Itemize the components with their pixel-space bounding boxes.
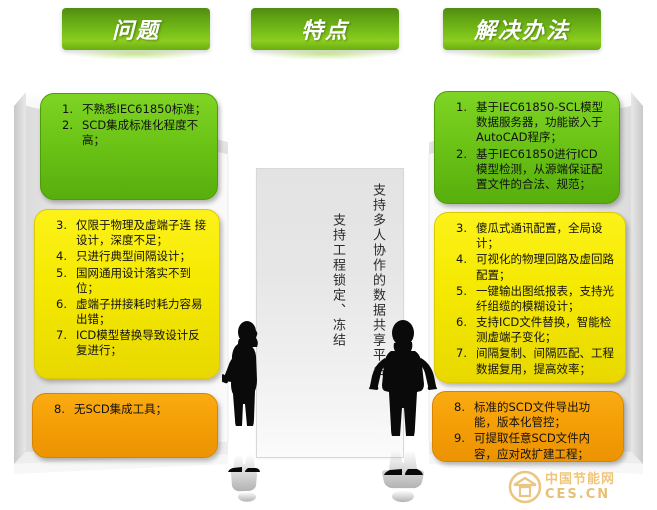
list-item-text: 可视化的物理回路及虚回路配置； [476,252,615,282]
solution-green-box[interactable]: 1. 基于IEC61850-SCL模型数据服务器，功能嵌入于AutoCAD程序；… [434,91,620,204]
list-item: 7. ICD模型替换导致设计反复进行； [41,328,209,358]
list-item-text: 基于IEC61850-SCL模型数据服务器，功能嵌入于AutoCAD程序； [476,100,609,146]
watermark-english-text: CES.CN [545,488,615,501]
banner-feature-label: 特点 [301,13,349,45]
list-item-number: 4. [41,249,76,264]
ces-logo-icon [508,470,542,504]
list-item: 4. 只进行典型间隔设计； [41,249,209,264]
center-vertical-text-secondary: 支持工程锁定、冻结 [327,213,347,425]
solution-orange-list: 8. 标准的SCD文件导出功能，版本化管控； 9. 可提取任意SCD文件内容，应… [439,400,613,462]
list-item-number: 2. [441,147,476,193]
list-item-number: 3. [41,218,76,248]
list-item: 2. 基于IEC61850进行ICD模型检测，从源端保证配置文件的合法、规范； [441,147,609,193]
problem-green-list: 1. 不熟悉IEC61850标准； 2. SCD集成标准化程度不高； [47,102,207,149]
list-item-number: 5. [441,284,476,314]
banner-solution-label: 解决办法 [474,13,570,45]
list-item-number: 3. [441,221,476,251]
list-item-text: 间隔复制、间隔匹配、工程数据复用，提高效率； [476,346,615,376]
list-item-number: 1. [441,100,476,146]
list-item: 5. 国网通用设计落实不到位； [41,266,209,296]
list-item-text: 只进行典型间隔设计； [76,249,209,264]
list-item-number: 4. [441,252,476,282]
list-item: 4. 可视化的物理回路及虚回路配置； [441,252,615,282]
problem-green-box[interactable]: 1. 不熟悉IEC61850标准； 2. SCD集成标准化程度不高； [40,93,218,200]
solution-green-list: 1. 基于IEC61850-SCL模型数据服务器，功能嵌入于AutoCAD程序；… [441,100,609,192]
list-item: 1. 基于IEC61850-SCL模型数据服务器，功能嵌入于AutoCAD程序； [441,100,609,146]
problem-yellow-list: 3. 仅限于物理及虚端子连 接设计，深度不足； 4. 只进行典型间隔设计； 5.… [41,218,209,359]
problem-orange-list: 8. 无SCD集成工具； [39,402,207,417]
list-item: 8. 无SCD集成工具； [39,402,207,417]
list-item-number: 7. [441,346,476,376]
banner-solution[interactable]: 解决办法 [443,8,601,50]
solution-yellow-box[interactable]: 3. 傻瓜式通讯配置，全局设计； 4. 可视化的物理回路及虚回路配置； 5. 一… [434,212,626,383]
list-item-text: 支持ICD文件替换，智能检测虚端子变化； [476,315,615,345]
list-item-number: 8. [39,402,74,417]
banner-solution-glow [449,48,595,60]
list-item-text: 可提取任意SCD文件内容，应对改扩建工程； [474,431,613,461]
list-item-text: 虚端子拼接耗时耗力容易出错； [76,297,209,327]
list-item-text: SCD集成标准化程度不高； [82,118,207,148]
list-item: 7. 间隔复制、间隔匹配、工程数据复用，提高效率； [441,346,615,376]
solution-orange-box[interactable]: 8. 标准的SCD文件导出功能，版本化管控； 9. 可提取任意SCD文件内容，应… [432,391,624,462]
banner-feature-glow [257,48,393,60]
list-item-number: 6. [41,297,76,327]
person-with-tablet-figure [222,318,282,503]
list-item-text: 基于IEC61850进行ICD模型检测，从源端保证配置文件的合法、规范； [476,147,609,193]
list-item: 9. 可提取任意SCD文件内容，应对改扩建工程； [439,431,613,461]
list-item-number: 1. [47,102,82,117]
list-item: 3. 仅限于物理及虚端子连 接设计，深度不足； [41,218,209,248]
banner-problem[interactable]: 问题 [62,8,210,50]
solution-yellow-list: 3. 傻瓜式通讯配置，全局设计； 4. 可视化的物理回路及虚回路配置； 5. 一… [441,221,615,377]
problem-yellow-box[interactable]: 3. 仅限于物理及虚端子连 接设计，深度不足； 4. 只进行典型间隔设计； 5.… [34,209,220,379]
list-item-text: 国网通用设计落实不到位； [76,266,209,296]
list-item-number: 9. [439,431,474,461]
list-item-number: 8. [439,400,474,430]
list-item: 2. SCD集成标准化程度不高； [47,118,207,148]
list-item-text: 标准的SCD文件导出功能，版本化管控； [474,400,613,430]
list-item-text: 仅限于物理及虚端子连 接设计，深度不足； [76,218,209,248]
list-item-text: 无SCD集成工具； [74,402,207,417]
list-item-number: 2. [47,118,82,148]
list-item: 6. 虚端子拼接耗时耗力容易出错； [41,297,209,327]
list-item-text: 一键输出图纸报表，支持光纤组缆的模糊设计； [476,284,615,314]
list-item-number: 5. [41,266,76,296]
watermark-chinese-text: 中国节能网 [545,473,615,486]
list-item: 6. 支持ICD文件替换，智能检测虚端子变化； [441,315,615,345]
list-item: 8. 标准的SCD文件导出功能，版本化管控； [439,400,613,430]
list-item: 1. 不熟悉IEC61850标准； [47,102,207,117]
banner-problem-glow [68,48,204,60]
list-item-text: ICD模型替换导致设计反复进行； [76,328,209,358]
problem-orange-box[interactable]: 8. 无SCD集成工具； [32,393,218,458]
list-item-number: 6. [441,315,476,345]
list-item-text: 傻瓜式通讯配置，全局设计； [476,221,615,251]
list-item: 3. 傻瓜式通讯配置，全局设计； [441,221,615,251]
person-hands-on-hips-figure [367,318,439,503]
list-item-number: 7. [41,328,76,358]
slide-canvas: 支持多人协作的数据共享平台 支持工程锁定、冻结 问题 特点 解决办法 1. 不熟… [0,0,657,510]
banner-feature[interactable]: 特点 [251,8,399,50]
banner-problem-label: 问题 [112,13,160,45]
list-item: 5. 一键输出图纸报表，支持光纤组缆的模糊设计； [441,284,615,314]
list-item-text: 不熟悉IEC61850标准； [82,102,207,117]
watermark: 中国节能网 CES.CN [508,468,650,506]
